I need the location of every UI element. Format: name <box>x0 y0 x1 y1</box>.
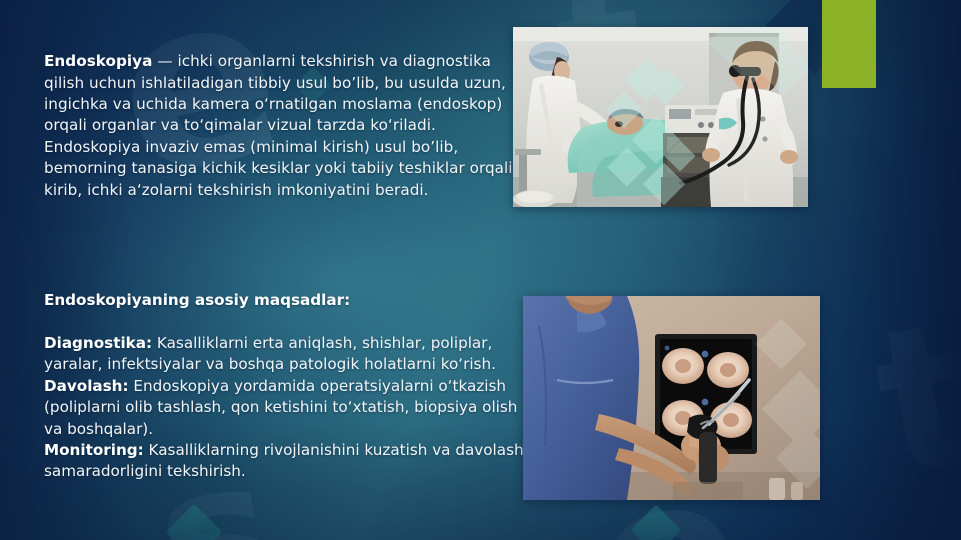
goals-heading: Endoskopiyaning asosiy maqsadlar: <box>44 290 524 311</box>
goal-item-monitoring: Monitoring: Kasalliklarning rivojlanishi… <box>44 440 524 483</box>
goal-label-diagnostika: Diagnostika: <box>44 334 152 352</box>
goal-label-davolash: Davolash: <box>44 377 129 395</box>
goal-label-monitoring: Monitoring: <box>44 441 144 459</box>
goal-item-diagnostika: Diagnostika: Kasalliklarni erta aniqlash… <box>44 333 524 376</box>
intro-body: ichki organlarni tekshirish va diagnosti… <box>44 52 513 198</box>
intro-dash: — <box>152 52 177 70</box>
intro-paragraph: Endoskopiya — ichki organlarni tekshiris… <box>44 51 514 201</box>
intro-term: Endoskopiya <box>44 52 152 70</box>
intro-text-block: Endoskopiya — ichki organlarni tekshiris… <box>44 36 514 216</box>
green-accent-block <box>822 0 876 88</box>
goals-block: Endoskopiyaning asosiy maqsadlar: Diagno… <box>44 290 524 483</box>
goal-item-davolash: Davolash: Endoskopiya yordamida operatsi… <box>44 376 524 440</box>
presentation-slide: e s o f t Endoskopiya — ichki organlarni… <box>0 0 961 540</box>
endoscope-monitor-photo <box>523 296 820 500</box>
endoscopy-procedure-photo <box>513 27 808 207</box>
